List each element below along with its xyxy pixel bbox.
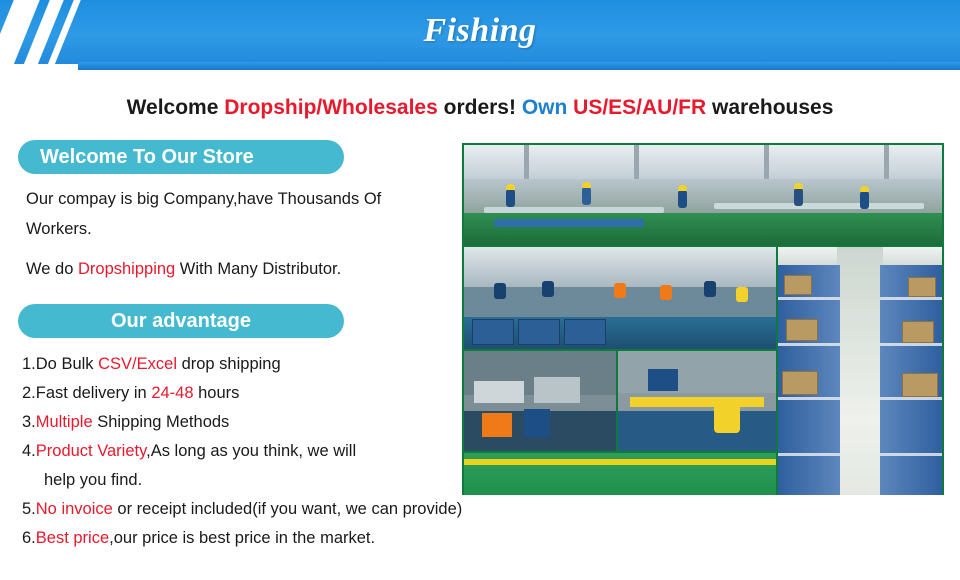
- photo-worker-vest: [482, 413, 512, 437]
- welcome-text-1: Welcome: [127, 96, 225, 119]
- list-item: 4.Product Variety,As long as you think, …: [22, 437, 470, 466]
- photo-worker-vest: [614, 283, 626, 298]
- list-item: 5.No invoice or receipt included(if you …: [22, 495, 470, 524]
- page-title: Fishing: [0, 0, 960, 62]
- banner-underline: [78, 62, 960, 70]
- photo-bin: [472, 319, 514, 345]
- list-item: 1.Do Bulk CSV/Excel drop shipping: [22, 350, 470, 379]
- advantage-heading-pill: Our advantage: [18, 304, 344, 338]
- store-heading-pill: Welcome To Our Store: [18, 140, 344, 174]
- photo-shelf-level: [778, 297, 840, 300]
- photo-conveyor: [494, 219, 644, 227]
- photo-carton: [902, 373, 938, 397]
- photo-shelf-level: [880, 297, 942, 300]
- photo-worker-helmet: [582, 182, 591, 188]
- photo-worker-vest: [714, 403, 740, 433]
- photo-worker-helmet: [678, 185, 687, 191]
- photo-worker: [494, 283, 506, 299]
- workshop-caption-photo: W O R K S H O P: [464, 453, 776, 495]
- photo-worker: [524, 409, 550, 437]
- list-item-text-b: ,As long as you think, we will: [146, 442, 356, 460]
- store-paragraph-2-dropshipping: Dropshipping: [78, 260, 175, 278]
- photo-shelf-level: [880, 397, 942, 400]
- list-item: 3.Multiple Shipping Methods: [22, 408, 470, 437]
- list-item-number: 3.: [22, 413, 36, 431]
- photo-shelf-level: [880, 453, 942, 456]
- welcome-headline: Welcome Dropship/Wholesales orders! Own …: [0, 96, 960, 120]
- left-content-column: Welcome To Our Store Our compay is big C…: [18, 140, 470, 553]
- photo-shelf-level: [778, 343, 840, 346]
- list-item-highlight: No invoice: [36, 500, 113, 518]
- photo-carton: [908, 277, 936, 297]
- photo-package: [534, 377, 580, 403]
- list-item-text-b: or receipt included(if you want, we can …: [113, 500, 462, 518]
- photo-conveyor: [484, 207, 664, 213]
- photo-background: [618, 351, 776, 393]
- photo-worker: [582, 187, 591, 205]
- list-item: 6.Best price,our price is best price in …: [22, 524, 470, 553]
- welcome-text-warehouse-codes: US/ES/AU/FR: [573, 96, 706, 119]
- photo-bin: [518, 319, 560, 345]
- list-item-continuation: help you find.: [44, 466, 470, 495]
- photo-worker: [794, 188, 803, 206]
- list-item-number: 4.: [22, 442, 36, 460]
- photo-shelf-level: [880, 343, 942, 346]
- workshop-photo-collage: W O R K S H O P: [462, 143, 944, 495]
- photo-worker: [860, 191, 869, 209]
- list-item-text-a: Do Bulk: [36, 355, 98, 373]
- photo-worker: [648, 369, 678, 391]
- photo-conveyor: [630, 397, 764, 407]
- list-item-text-b: ,our price is best price in the market.: [109, 529, 375, 547]
- photo-worker: [704, 281, 716, 297]
- advantage-section: Our advantage 1.Do Bulk CSV/Excel drop s…: [18, 304, 470, 553]
- list-item-number: 5.: [22, 500, 36, 518]
- advantage-list: 1.Do Bulk CSV/Excel drop shipping 2.Fast…: [22, 350, 470, 553]
- list-item-highlight: Multiple: [36, 413, 93, 431]
- photo-carton: [784, 275, 812, 295]
- list-item-highlight: 24-48: [151, 384, 193, 402]
- list-item-highlight: Product Variety: [36, 442, 146, 460]
- welcome-text-dropship: Dropship/Wholesales: [224, 96, 438, 119]
- list-item-highlight: Best price: [36, 529, 109, 547]
- list-item-highlight: CSV/Excel: [98, 355, 177, 373]
- factory-photo-middle-left: [464, 247, 776, 349]
- photo-worker-vest: [660, 285, 672, 300]
- list-item-text-a: help you find.: [44, 471, 142, 489]
- store-paragraph-1-line-1: Our compay is big Company,have Thousands…: [26, 190, 381, 208]
- list-item-text-b: drop shipping: [177, 355, 281, 373]
- photo-ceiling: [464, 247, 776, 287]
- list-item-number: 6.: [22, 529, 36, 547]
- photo-aisle: [837, 247, 883, 495]
- photo-carton: [782, 371, 818, 395]
- photo-floor-tape: [464, 459, 776, 465]
- photo-worker-helmet: [860, 186, 869, 192]
- photo-worker-helmet: [794, 183, 803, 189]
- list-item-text-a: Fast delivery in: [36, 384, 152, 402]
- photo-carton: [902, 321, 934, 343]
- photo-ceiling: [464, 145, 942, 179]
- page-banner: Fishing: [0, 0, 960, 78]
- store-paragraph-2-c: With Many Distributor.: [175, 260, 341, 278]
- store-paragraph-1-line-2: Workers.: [26, 220, 92, 238]
- photo-worker: [542, 281, 554, 297]
- factory-photo-bottom-middle: [618, 351, 776, 451]
- photo-floor: [464, 213, 942, 245]
- photo-beam: [634, 145, 639, 179]
- store-paragraph-2-a: We do: [26, 260, 78, 278]
- photo-shelf-level: [778, 397, 840, 400]
- factory-photo-bottom-left: [464, 351, 616, 451]
- welcome-text-own: Own: [522, 96, 573, 119]
- store-paragraph-1: Our compay is big Company,have Thousands…: [26, 184, 470, 244]
- photo-beam: [524, 145, 529, 179]
- list-item-text-b: Shipping Methods: [93, 413, 230, 431]
- photo-worker: [678, 190, 687, 208]
- welcome-text-2: orders!: [438, 96, 522, 119]
- photo-package: [474, 381, 524, 403]
- photo-conveyor: [714, 203, 924, 209]
- factory-photo-top: [464, 145, 942, 245]
- welcome-text-3: warehouses: [706, 96, 833, 119]
- list-item-number: 2.: [22, 384, 36, 402]
- photo-beam: [884, 145, 889, 179]
- store-paragraph-2: We do Dropshipping With Many Distributor…: [26, 254, 470, 284]
- list-item-text-b: hours: [194, 384, 240, 402]
- photo-worker-vest: [736, 287, 748, 302]
- photo-bin: [564, 319, 606, 345]
- workshop-caption: W O R K S H O P: [464, 475, 776, 495]
- photo-shelf-level: [778, 453, 840, 456]
- photo-beam: [764, 145, 769, 179]
- list-item-number: 1.: [22, 355, 36, 373]
- warehouse-photo-right: [778, 247, 942, 495]
- photo-worker-helmet: [506, 184, 515, 190]
- photo-foreground: [618, 411, 776, 451]
- photo-carton: [786, 319, 818, 341]
- list-item: 2.Fast delivery in 24-48 hours: [22, 379, 470, 408]
- photo-worker: [506, 189, 515, 207]
